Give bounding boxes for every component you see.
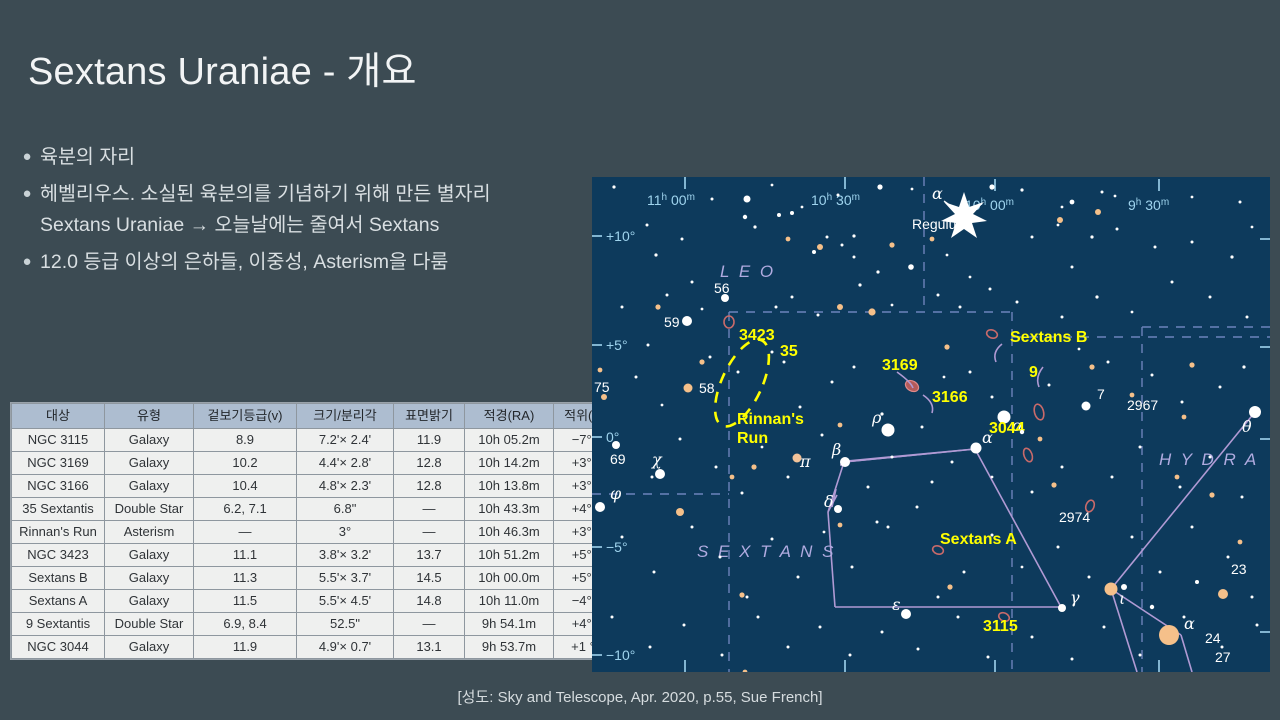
svg-text:3044: 3044 xyxy=(989,420,1025,437)
table-cell: 7.2'× 2.4' xyxy=(297,429,394,452)
list-item: ● 12.0 등급 이상의 은하들, 이중성, Asterism을 다룸 xyxy=(14,247,574,278)
svg-text:ι: ι xyxy=(1119,589,1125,608)
list-item-label: 12.0 등급 이상의 은하들, 이중성, Asterism을 다룸 xyxy=(40,247,448,278)
table-cell: 10h 51.2m xyxy=(465,544,554,567)
column-header-size: 크기/분리각 xyxy=(297,404,394,429)
table-row: Sextans BGalaxy11.35.5'× 3.7'14.510h 00.… xyxy=(12,567,631,590)
svg-text:3166: 3166 xyxy=(932,389,968,406)
table-cell: 10h 00.0m xyxy=(465,567,554,590)
table-cell: 3° xyxy=(297,521,394,544)
table-cell: 10h 14.2m xyxy=(465,452,554,475)
page-title: Sextans Uraniae - 개요 xyxy=(28,40,417,95)
column-header-ra: 적경(RA) xyxy=(465,404,554,429)
table-cell: 10h 46.3m xyxy=(465,521,554,544)
svg-text:9: 9 xyxy=(1029,364,1038,381)
svg-text:2967: 2967 xyxy=(1127,397,1158,413)
svg-text:7: 7 xyxy=(1097,386,1105,402)
table-header-row: 대상 유형 겉보기등급(v) 크기/분리각 표면밝기 적경(RA) 적위(Dec… xyxy=(12,404,631,429)
svg-text:Sextans B: Sextans B xyxy=(1010,329,1087,346)
table-cell: 14.5 xyxy=(394,567,465,590)
table-cell: 10h 05.2m xyxy=(465,429,554,452)
svg-text:S E X T A N S: S E X T A N S xyxy=(697,542,836,561)
table-cell: 10.4 xyxy=(194,475,297,498)
table-row: NGC 3166Galaxy10.44.8'× 2.3'12.810h 13.8… xyxy=(12,475,631,498)
table-cell: 9h 54.1m xyxy=(465,613,554,636)
table-cell: — xyxy=(394,521,465,544)
list-item-label: 헤벨리우스. 소실된 육분의를 기념하기 위해 만든 별자리 Sextans U… xyxy=(40,179,491,241)
column-header-surface-bright: 표면밝기 xyxy=(394,404,465,429)
svg-text:Rinnan's: Rinnan's xyxy=(737,411,804,428)
list-item-label: 육분의 자리 xyxy=(40,142,135,173)
table-cell: 3.8'× 3.2' xyxy=(297,544,394,567)
svg-text:ε: ε xyxy=(892,595,901,614)
table-cell: 6.8" xyxy=(297,498,394,521)
table-cell: 11.3 xyxy=(194,567,297,590)
svg-text:θ: θ xyxy=(1242,417,1252,436)
bullet-list: ● 육분의 자리 ● 헤벨리우스. 소실된 육분의를 기념하기 위해 만든 별자… xyxy=(14,142,574,284)
table-cell: 12.8 xyxy=(394,475,465,498)
table-cell: 13.1 xyxy=(394,636,465,659)
svg-text:3115: 3115 xyxy=(983,618,1018,635)
bullet-marker-icon: ● xyxy=(14,179,40,209)
svg-text:+10°: +10° xyxy=(606,228,635,244)
table-row: NGC 3169Galaxy10.24.4'× 2.8'12.810h 14.2… xyxy=(12,452,631,475)
table-cell: — xyxy=(194,521,297,544)
table-cell: 4.9'× 0.7' xyxy=(297,636,394,659)
svg-text:α: α xyxy=(1184,614,1195,633)
table-cell: Double Star xyxy=(105,613,194,636)
table-cell: NGC 3166 xyxy=(12,475,105,498)
bullet-marker-icon: ● xyxy=(14,142,40,172)
table-cell: 11.9 xyxy=(194,636,297,659)
table-cell: 12.8 xyxy=(394,452,465,475)
table-cell: 8.9 xyxy=(194,429,297,452)
svg-text:−10°: −10° xyxy=(606,647,635,663)
column-header-type: 유형 xyxy=(105,404,194,429)
svg-text:3169: 3169 xyxy=(882,357,918,374)
table-row: Rinnan's RunAsterism—3°—10h 46.3m+3° 26' xyxy=(12,521,631,544)
table-cell: 5.5'× 4.5' xyxy=(297,590,394,613)
column-header-target: 대상 xyxy=(12,404,105,429)
svg-text:π: π xyxy=(799,452,811,471)
table-cell: 4.4'× 2.8' xyxy=(297,452,394,475)
column-header-magnitude: 겉보기등급(v) xyxy=(194,404,297,429)
table-row: Sextans AGalaxy11.55.5'× 4.5'14.810h 11.… xyxy=(12,590,631,613)
chart-source-caption: [성도: Sky and Telescope, Apr. 2020, p.55,… xyxy=(0,686,1280,707)
svg-text:Run: Run xyxy=(737,430,768,447)
svg-text:35: 35 xyxy=(780,343,798,360)
table-cell: NGC 3423 xyxy=(12,544,105,567)
table-cell: 35 Sextantis xyxy=(12,498,105,521)
svg-text:γ: γ xyxy=(1070,588,1080,607)
table-cell: Sextans B xyxy=(12,567,105,590)
svg-text:χ: χ xyxy=(651,450,663,469)
svg-text:δ: δ xyxy=(824,492,834,511)
table-cell: Double Star xyxy=(105,498,194,521)
table-cell: 52.5" xyxy=(297,613,394,636)
table-cell: 11.5 xyxy=(194,590,297,613)
table-cell: 9 Sextantis xyxy=(12,613,105,636)
table-cell: — xyxy=(394,498,465,521)
table-cell: 9h 53.7m xyxy=(465,636,554,659)
table-cell: 14.8 xyxy=(394,590,465,613)
star-chart-image: .gridline{stroke:#6d83bb;stroke-width:1.… xyxy=(592,177,1270,672)
table-cell: NGC 3115 xyxy=(12,429,105,452)
svg-text:59: 59 xyxy=(664,314,680,330)
table-cell: NGC 3169 xyxy=(12,452,105,475)
svg-text:27: 27 xyxy=(1215,649,1231,665)
table-cell: Rinnan's Run xyxy=(12,521,105,544)
svg-text:Sextans A: Sextans A xyxy=(940,531,1017,548)
bullet-marker-icon: ● xyxy=(14,247,40,277)
svg-text:2974: 2974 xyxy=(1059,509,1090,525)
table-cell: Galaxy xyxy=(105,590,194,613)
table-cell: 10h 13.8m xyxy=(465,475,554,498)
table-cell: 4.8'× 2.3' xyxy=(297,475,394,498)
svg-text:ρ: ρ xyxy=(871,408,882,427)
table-cell: 10.2 xyxy=(194,452,297,475)
table-cell: 6.2, 7.1 xyxy=(194,498,297,521)
table-cell: 13.7 xyxy=(394,544,465,567)
table-row: NGC 3423Galaxy11.13.8'× 3.2'13.710h 51.2… xyxy=(12,544,631,567)
table-row: NGC 3044Galaxy11.94.9'× 0.7'13.19h 53.7m… xyxy=(12,636,631,659)
table-row: NGC 3115Galaxy8.97.2'× 2.4'11.910h 05.2m… xyxy=(12,429,631,452)
object-data-table: 대상 유형 겉보기등급(v) 크기/분리각 표면밝기 적경(RA) 적위(Dec… xyxy=(11,403,631,659)
svg-text:+5°: +5° xyxy=(606,337,628,353)
table-cell: 11.1 xyxy=(194,544,297,567)
list-item: ● 육분의 자리 xyxy=(14,142,574,173)
table-cell: Galaxy xyxy=(105,429,194,452)
svg-text:3423: 3423 xyxy=(739,327,775,344)
svg-text:56: 56 xyxy=(714,280,730,296)
table-cell: 5.5'× 3.7' xyxy=(297,567,394,590)
svg-text:α: α xyxy=(932,184,943,203)
svg-text:75: 75 xyxy=(594,379,610,395)
table-cell: 11.9 xyxy=(394,429,465,452)
svg-text:β: β xyxy=(831,440,841,459)
list-item: ● 헤벨리우스. 소실된 육분의를 기념하기 위해 만든 별자리 Sextans… xyxy=(14,179,574,241)
svg-text:69: 69 xyxy=(610,451,626,467)
svg-text:Regulus: Regulus xyxy=(912,216,963,232)
table-row: 9 SextantisDouble Star6.9, 8.452.5"—9h 5… xyxy=(12,613,631,636)
table-cell: Galaxy xyxy=(105,475,194,498)
table-cell: Galaxy xyxy=(105,452,194,475)
table-cell: Galaxy xyxy=(105,567,194,590)
table-cell: Sextans A xyxy=(12,590,105,613)
svg-text:H Y D R A: H Y D R A xyxy=(1159,450,1259,469)
table-cell: Asterism xyxy=(105,521,194,544)
table-cell: — xyxy=(394,613,465,636)
table-cell: Galaxy xyxy=(105,544,194,567)
table-cell: NGC 3044 xyxy=(12,636,105,659)
table-cell: 6.9, 8.4 xyxy=(194,613,297,636)
table-cell: 10h 11.0m xyxy=(465,590,554,613)
table-row: 35 SextantisDouble Star6.2, 7.16.8"—10h … xyxy=(12,498,631,521)
svg-text:L E O: L E O xyxy=(720,262,776,281)
svg-text:−5°: −5° xyxy=(606,539,628,555)
svg-text:24: 24 xyxy=(1205,630,1221,646)
svg-text:58: 58 xyxy=(699,380,715,396)
table-cell: Galaxy xyxy=(105,636,194,659)
svg-text:23: 23 xyxy=(1231,561,1247,577)
table-cell: 10h 43.3m xyxy=(465,498,554,521)
svg-text:φ: φ xyxy=(610,484,622,503)
